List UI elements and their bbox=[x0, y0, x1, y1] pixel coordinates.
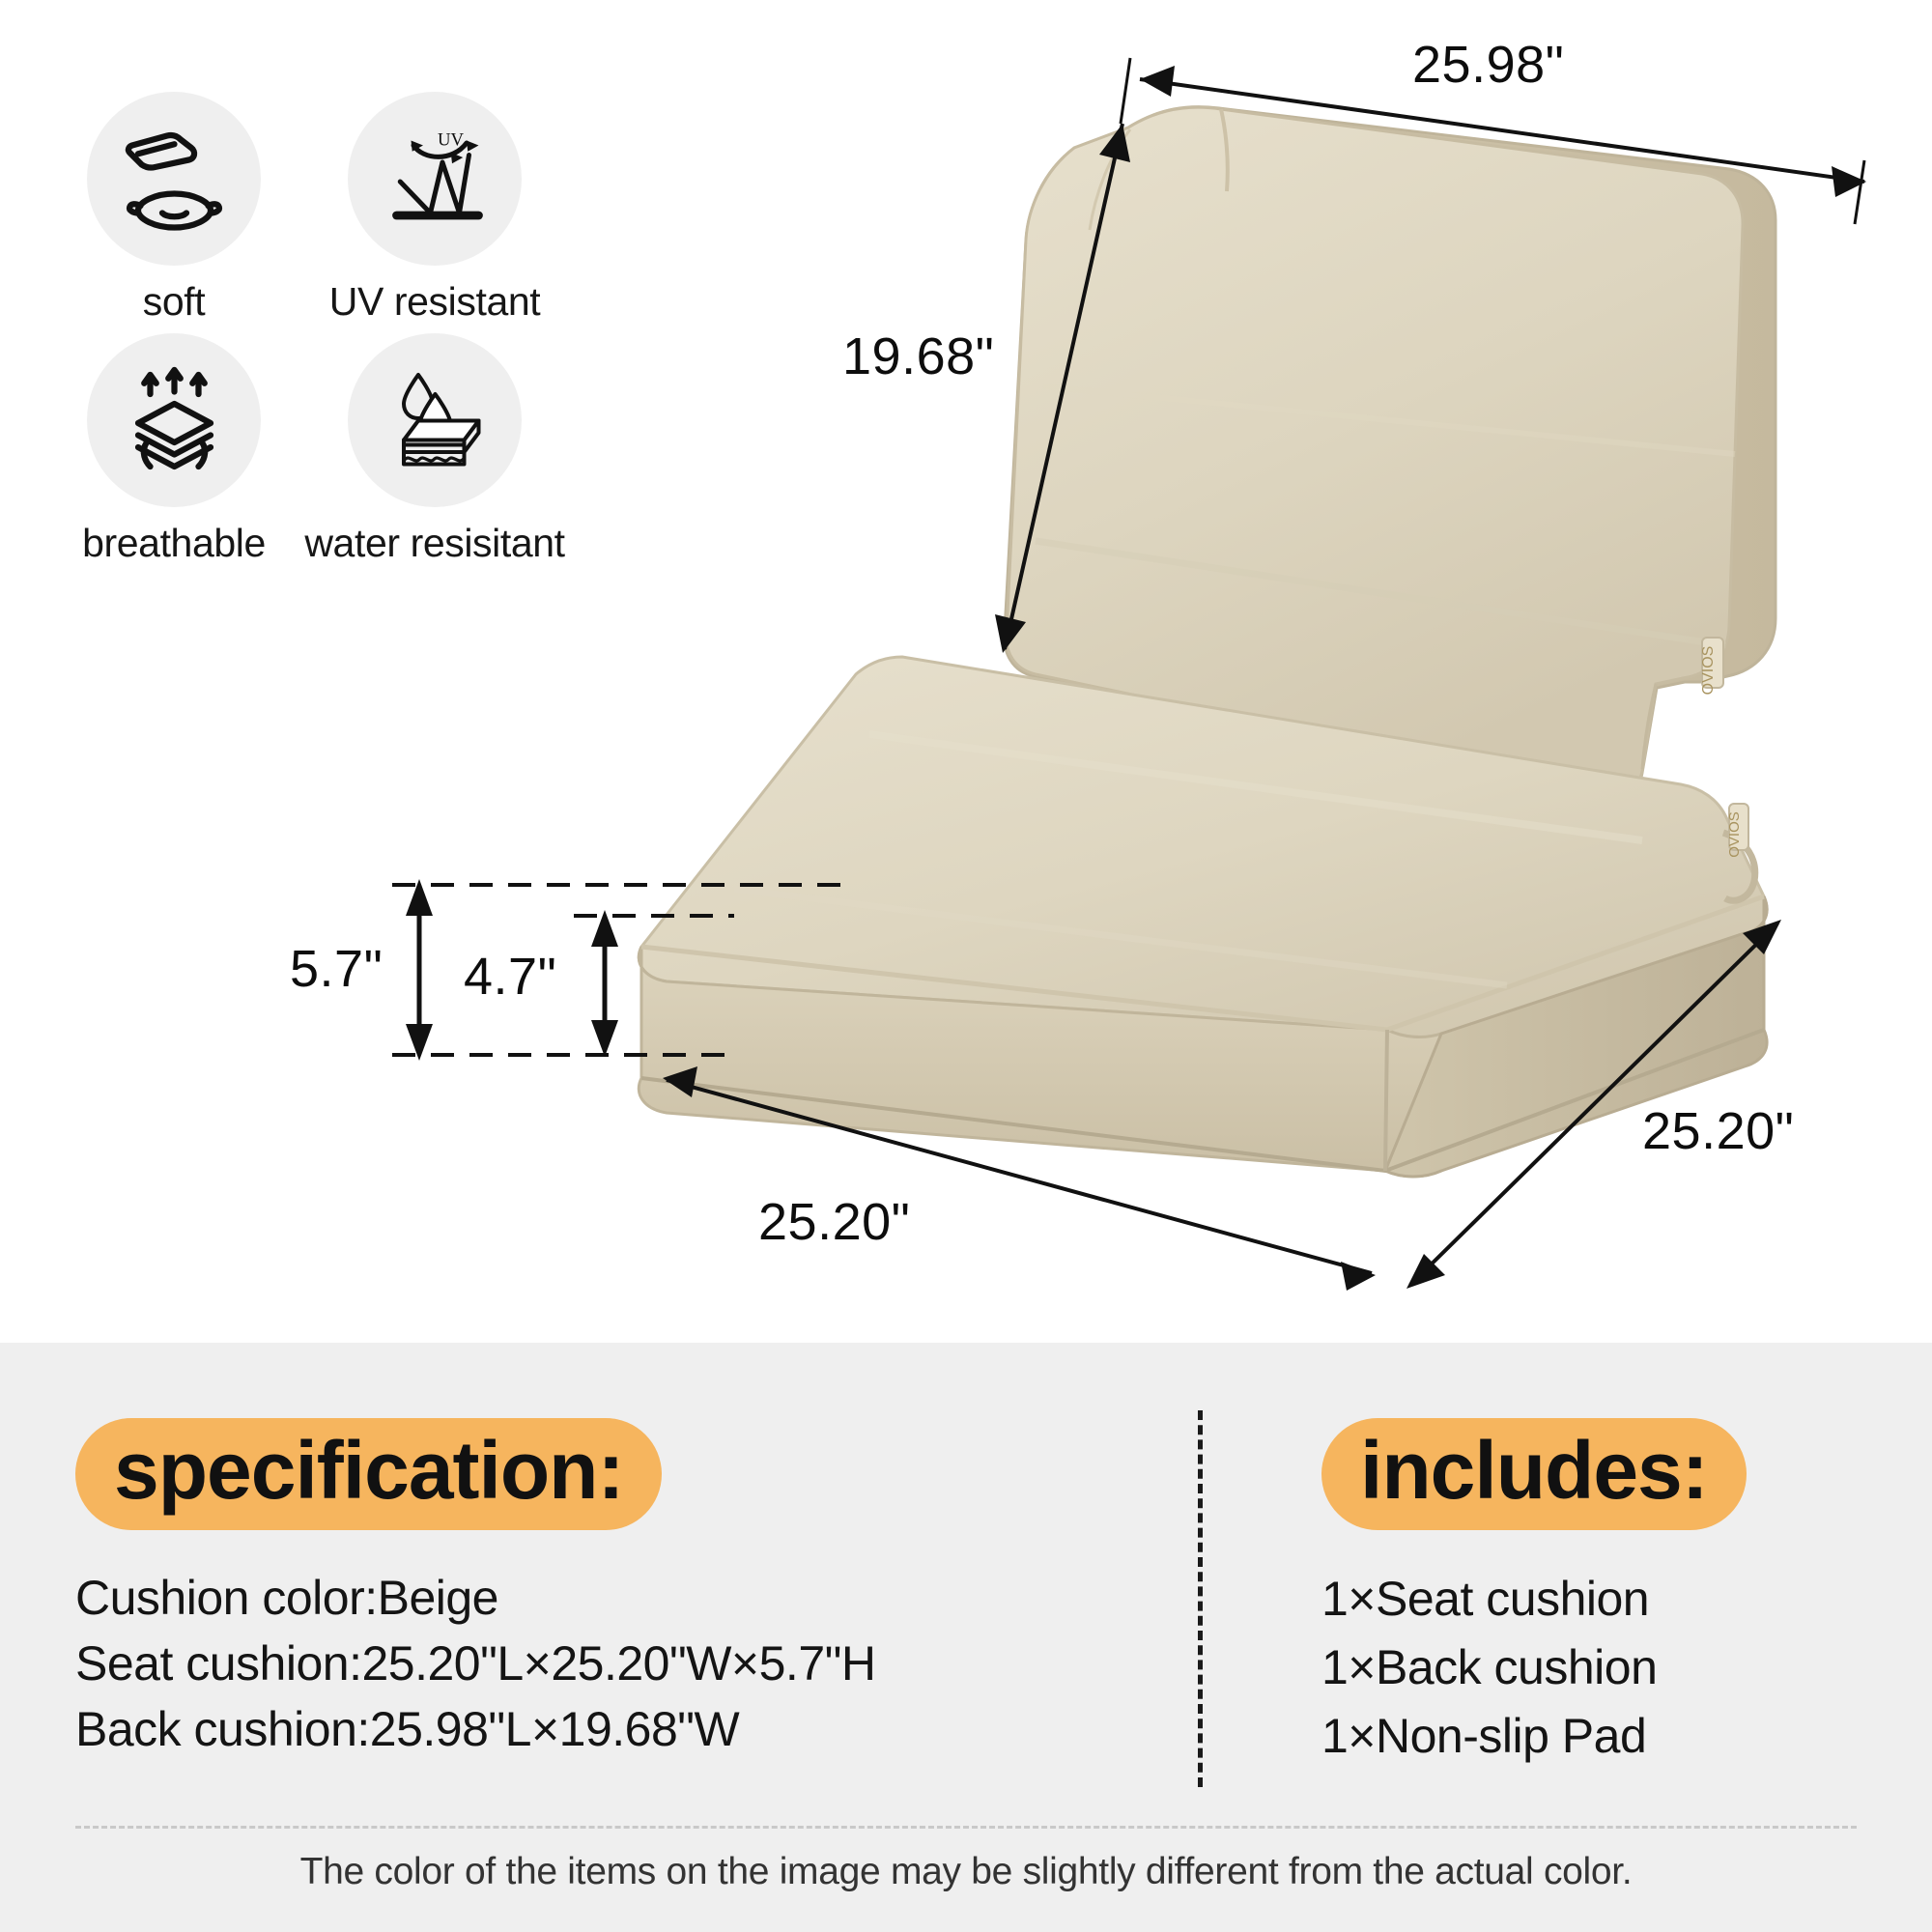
product-infographic: soft UV UV resistant bbox=[0, 0, 1932, 1932]
specification-section: specification: Cushion color:Beige Seat … bbox=[75, 1418, 925, 1762]
dimension-label-seat-total-height: 5.7" bbox=[290, 939, 383, 999]
info-panel: specification: Cushion color:Beige Seat … bbox=[0, 1343, 1932, 1932]
include-item-back-cushion: 1×Back cushion bbox=[1321, 1634, 1862, 1702]
include-item-seat-cushion: 1×Seat cushion bbox=[1321, 1565, 1862, 1634]
include-item-non-slip-pad: 1×Non-slip Pad bbox=[1321, 1702, 1862, 1771]
specification-lines: Cushion color:Beige Seat cushion:25.20"L… bbox=[75, 1565, 925, 1762]
dimension-label-seat-core-height: 4.7" bbox=[464, 947, 556, 1007]
dimension-label-seat-front-width: 25.20" bbox=[758, 1192, 910, 1252]
includes-section: includes: 1×Seat cushion 1×Back cushion … bbox=[1321, 1418, 1862, 1771]
spec-line-back: Back cushion:25.98"L×19.68"W bbox=[75, 1696, 925, 1762]
specification-heading-badge: specification: bbox=[75, 1418, 662, 1530]
dimension-label-seat-depth: 25.20" bbox=[1642, 1101, 1794, 1161]
svg-text:OVIOS: OVIOS bbox=[1726, 811, 1743, 858]
spec-line-seat: Seat cushion:25.20"L×25.20"W×5.7"H bbox=[75, 1631, 925, 1696]
svg-text:OVIOS: OVIOS bbox=[1700, 646, 1717, 696]
includes-heading-badge: includes: bbox=[1321, 1418, 1747, 1530]
dimension-label-back-width: 25.98" bbox=[1412, 35, 1564, 95]
includes-lines: 1×Seat cushion 1×Back cushion 1×Non-slip… bbox=[1321, 1565, 1862, 1771]
dimension-label-back-height: 19.68" bbox=[842, 327, 994, 386]
diagram-area: soft UV UV resistant bbox=[0, 0, 1932, 1343]
section-divider bbox=[1198, 1410, 1203, 1787]
footer-divider bbox=[75, 1826, 1857, 1829]
color-disclaimer: The color of the items on the image may … bbox=[0, 1851, 1932, 1893]
spec-line-color: Cushion color:Beige bbox=[75, 1565, 925, 1631]
